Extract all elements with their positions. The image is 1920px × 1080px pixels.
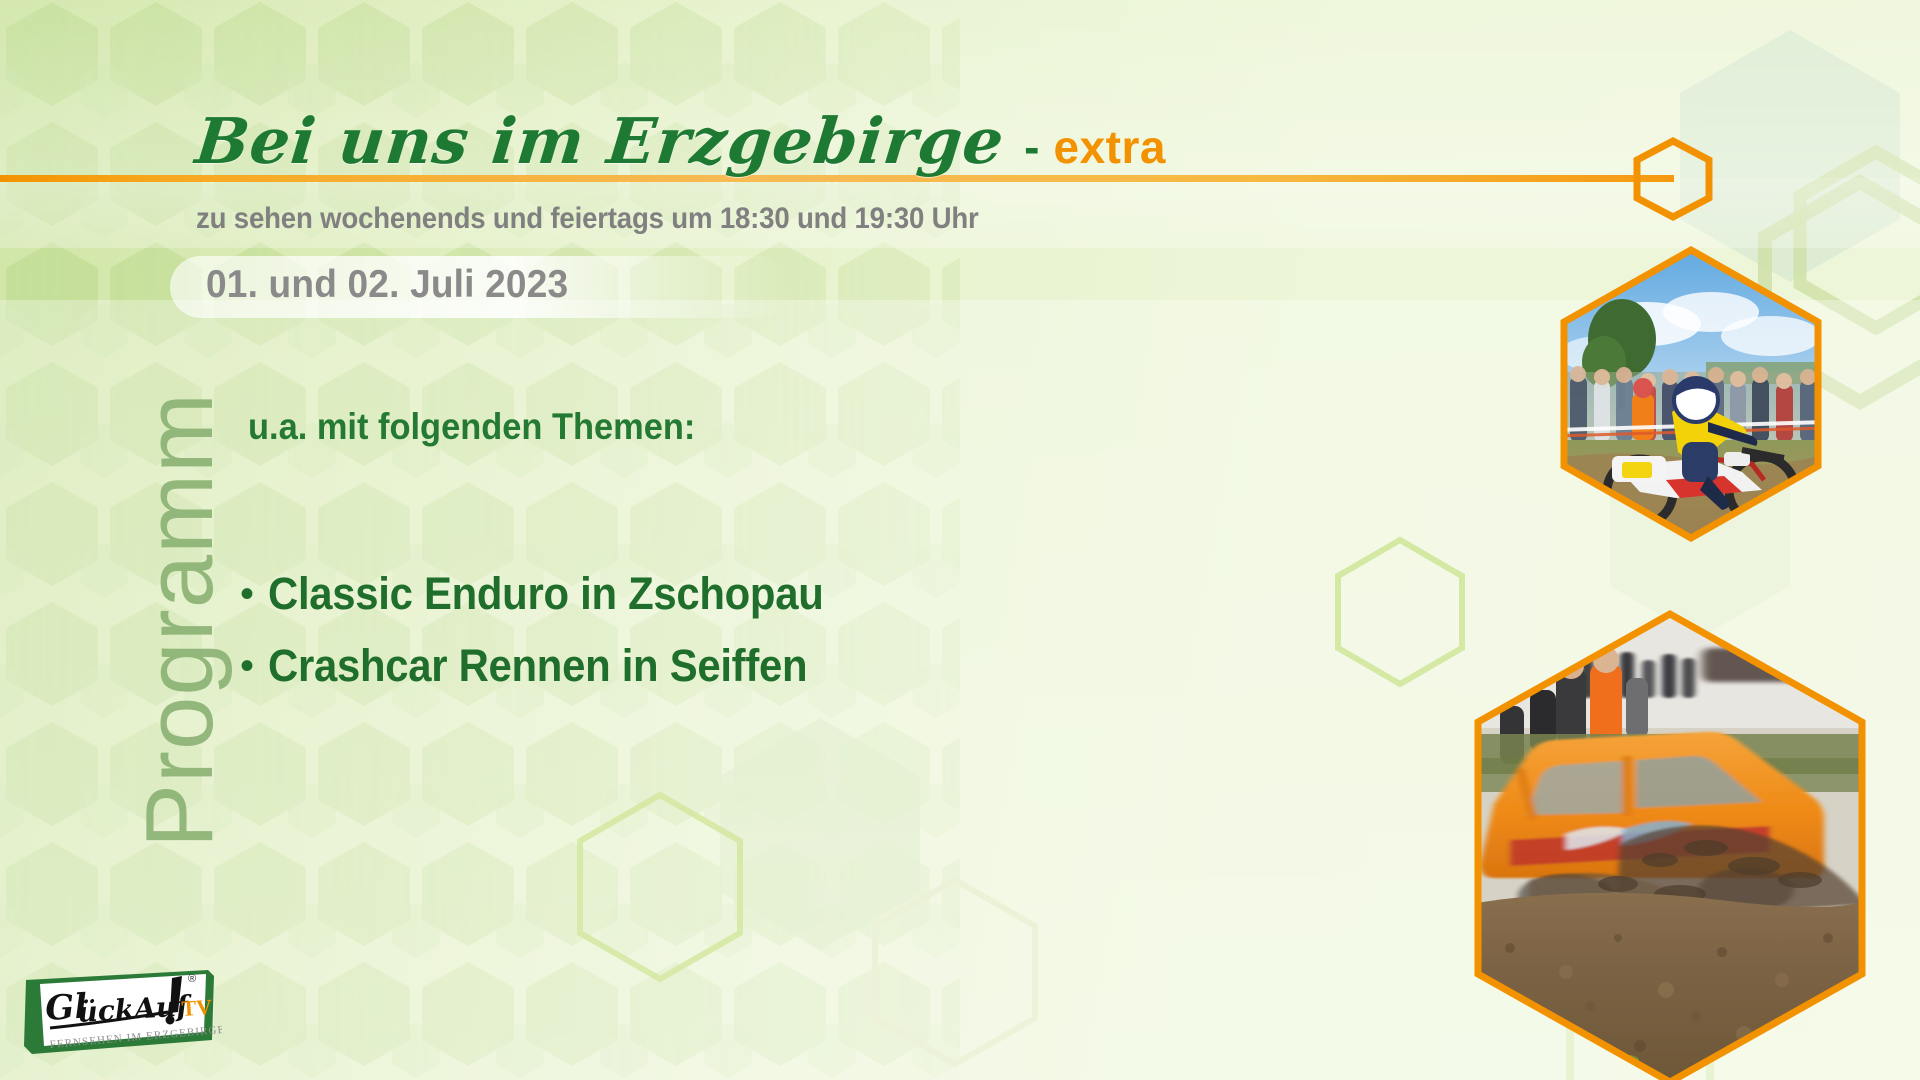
svg-text:TV: TV (181, 994, 213, 1021)
page-title-dash: - (1024, 120, 1039, 174)
list-item: • Classic Enduro in Zschopau (240, 568, 865, 620)
topics-list: • Classic Enduro in Zschopau • Crashcar … (240, 568, 865, 712)
bullet-icon: • (240, 646, 254, 686)
crashcar-photo (1470, 608, 1870, 1080)
rule-end-hexagon-icon (1630, 137, 1716, 221)
bullet-icon: • (240, 574, 254, 614)
topics-heading: u.a. mit folgenden Themen: (248, 406, 695, 448)
broadcast-times-subtitle: zu sehen wochenends und feiertags um 18:… (196, 202, 979, 236)
list-item: • Crashcar Rennen in Seiffen (240, 640, 865, 692)
svg-text:®: ® (188, 973, 196, 985)
page-title-extra: extra (1054, 120, 1166, 174)
page-title-script: Bei uns im Erzgebirge (192, 104, 1008, 178)
topic-label: Crashcar Rennen in Seiffen (268, 640, 807, 692)
page-title: Bei uns im Erzgebirge - extra (196, 104, 1166, 178)
broadcast-program-slide: Programm Bei uns im Erzgebirge - extra z… (0, 0, 1920, 1080)
enduro-photo (1556, 244, 1826, 544)
station-logo: Gl ückAuf ® TV FERNSEHEN IM ERZGEBIRGE (22, 968, 222, 1064)
topic-label: Classic Enduro in Zschopau (268, 568, 824, 620)
sidebar-vertical-label: Programm (125, 270, 235, 970)
broadcast-date: 01. und 02. Juli 2023 (206, 263, 568, 307)
